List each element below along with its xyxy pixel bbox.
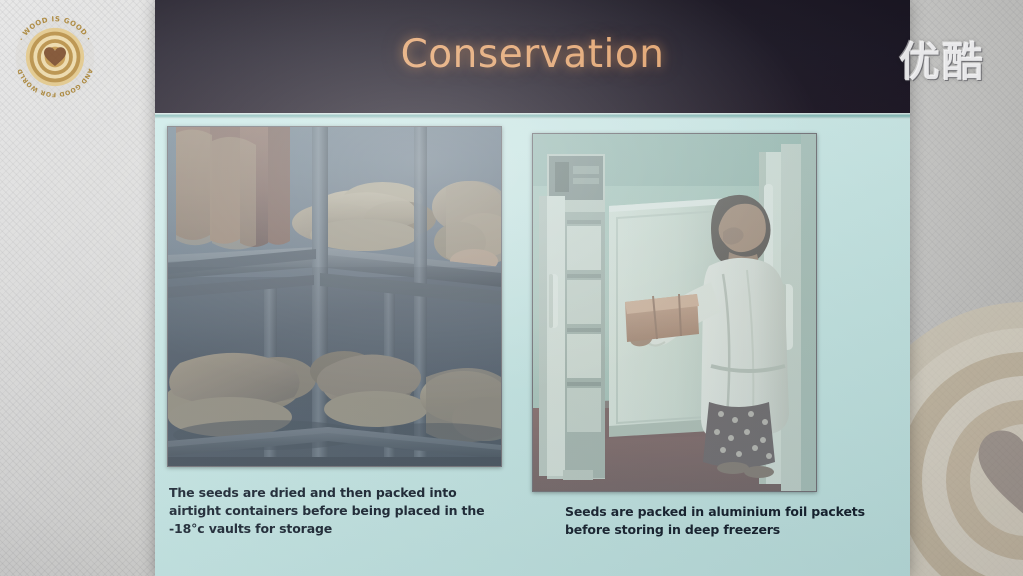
page-title: Conservation: [155, 32, 910, 77]
wood-is-good-logo: · WOOD IS GOOD · AND GOOD FOR WORLD: [8, 10, 102, 104]
caption-deep-freezer: Seeds are packed in aluminium foil packe…: [565, 503, 895, 539]
slide-title-underline: [155, 113, 910, 119]
video-player-frame: · WOOD IS GOOD · AND GOOD FOR WORLD Cons…: [0, 0, 1023, 576]
seed-storage-shelves-image: [168, 127, 501, 466]
technician-deep-freezer-image: [533, 134, 816, 491]
presentation-slide: Conservation: [155, 0, 910, 576]
youku-watermark: 优酷: [899, 28, 985, 88]
caption-seed-storage: The seeds are dried and then packed into…: [169, 484, 499, 538]
technician-deep-freezer-photo: [532, 133, 817, 492]
seed-storage-shelves-photo: [167, 126, 502, 467]
